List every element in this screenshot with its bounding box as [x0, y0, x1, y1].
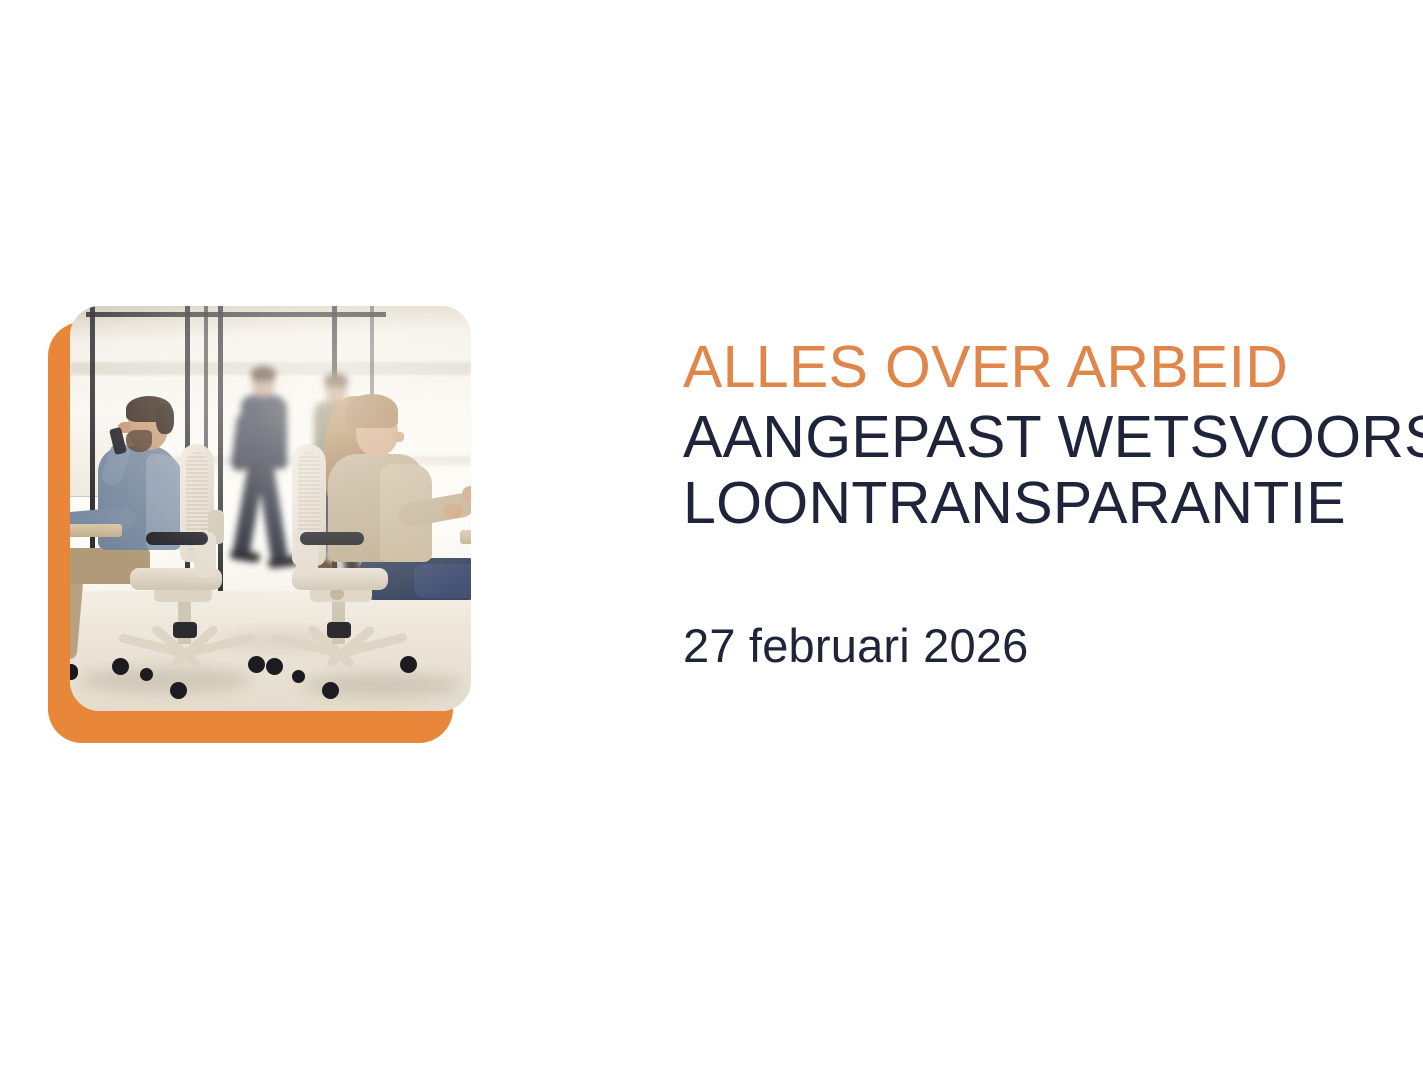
chair-shadow — [80, 667, 250, 693]
partition-head-rail — [86, 312, 386, 317]
subtitle-line-2: LOONTRANSPARANTIE — [683, 470, 1383, 536]
title-slide: ALLES OVER ARBEID AANGEPAST WETSVOORSTEL… — [0, 0, 1423, 1079]
subtitle-group: AANGEPAST WETSVOORSTEL LOONTRANSPARANTIE — [683, 404, 1383, 536]
photo-scene — [70, 306, 471, 711]
subtitle-line-1: AANGEPAST WETSVOORSTEL — [683, 404, 1383, 470]
presentation-date: 27 februari 2026 — [683, 620, 1383, 672]
page-title: ALLES OVER ARBEID — [683, 334, 1383, 400]
hero-image-block — [48, 306, 471, 729]
office-photo — [70, 306, 471, 711]
title-text-block: ALLES OVER ARBEID AANGEPAST WETSVOORSTEL… — [683, 334, 1383, 672]
